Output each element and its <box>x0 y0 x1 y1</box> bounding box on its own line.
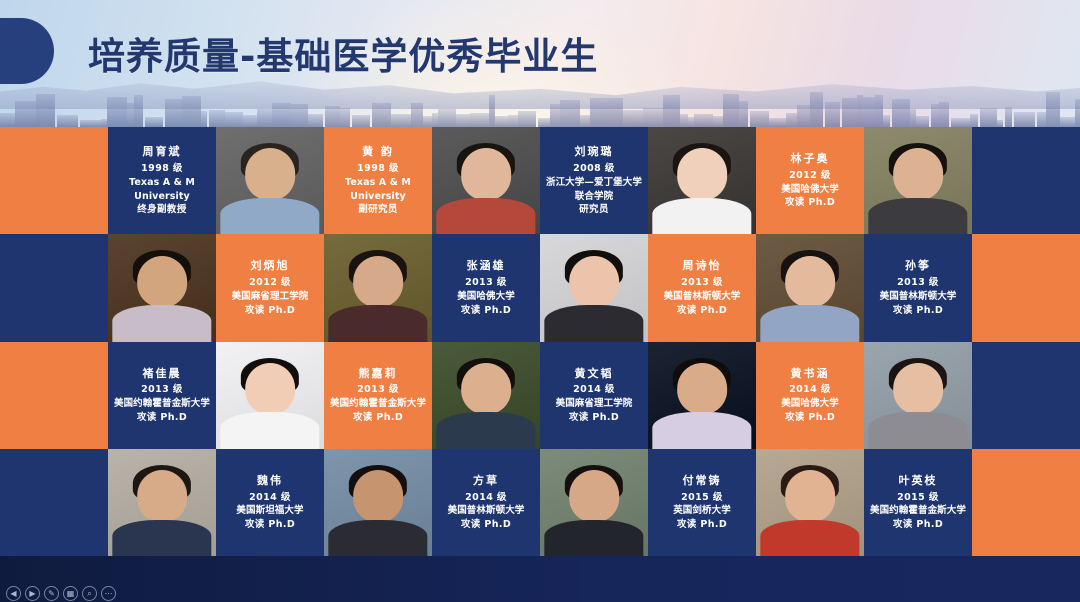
graduate-enrollment-year: 2014 级 <box>781 383 839 397</box>
graduate-institution: 美国麻省理工学院 <box>556 397 633 411</box>
empty-navy-cell <box>972 127 1080 234</box>
graduate-info-cell: 周育斌1998 级Texas A & M University终身副教授 <box>108 127 216 234</box>
presentation-slide: 培养质量-基础医学优秀毕业生 周育斌1998 级Texas A & M Univ… <box>0 0 1080 602</box>
graduate-institution: 美国约翰霍普金斯大学 <box>330 397 426 411</box>
empty-navy-cell <box>972 342 1080 449</box>
graduate-info: 林子奥2012 级美国哈佛大学攻读 Ph.D <box>778 149 842 212</box>
graduate-role: 攻读 Ph.D <box>673 518 731 532</box>
presenter-toolbar[interactable]: ◀▶✎▦⌕⋯ <box>6 586 116 601</box>
zoom-button[interactable]: ⌕ <box>82 586 97 601</box>
graduate-institution: Texas A & M University <box>327 176 429 204</box>
graduate-info-cell: 林子奥2012 级美国哈佛大学攻读 Ph.D <box>756 127 864 234</box>
graduate-portrait-photo <box>864 127 972 234</box>
graduate-name: 周诗怡 <box>664 258 741 274</box>
page-title: 培养质量-基础医学优秀毕业生 <box>88 26 598 80</box>
graduate-enrollment-year: 2013 级 <box>457 276 515 290</box>
graduate-name: 熊嘉莉 <box>330 366 426 382</box>
graduate-role: 攻读 Ph.D <box>870 518 966 532</box>
graduate-info: 孙筝2013 级美国普林斯顿大学攻读 Ph.D <box>877 256 960 319</box>
graduate-role: 副研究员 <box>327 203 429 217</box>
graduate-info: 褚佳晨2013 级美国约翰霍普金斯大学攻读 Ph.D <box>111 364 213 427</box>
graduate-role: 攻读 Ph.D <box>448 518 525 532</box>
portrait-image <box>324 449 432 556</box>
graduate-info: 方草2014 级美国普林斯顿大学攻读 Ph.D <box>445 471 528 534</box>
graduate-portrait-photo <box>108 234 216 341</box>
graduate-portrait-photo <box>540 449 648 556</box>
graduate-portrait-photo <box>324 449 432 556</box>
portrait-image <box>432 127 540 234</box>
graduate-portrait-photo <box>216 127 324 234</box>
graduate-info: 熊嘉莉2013 级美国约翰霍普金斯大学攻读 Ph.D <box>327 364 429 427</box>
graduate-info-cell: 黄文韬2014 级美国麻省理工学院攻读 Ph.D <box>540 342 648 449</box>
graduate-info-cell: 黄 韵1998 级Texas A & M University副研究员 <box>324 127 432 234</box>
portrait-image <box>864 342 972 449</box>
graduate-info-cell: 叶英枝2015 级美国约翰霍普金斯大学攻读 Ph.D <box>864 449 972 556</box>
graduate-info-cell: 熊嘉莉2013 级美国约翰霍普金斯大学攻读 Ph.D <box>324 342 432 449</box>
portrait-image <box>864 127 972 234</box>
graduates-mosaic-grid: 周育斌1998 级Texas A & M University终身副教授黄 韵1… <box>0 127 1080 556</box>
empty-orange-cell <box>972 234 1080 341</box>
graduate-name: 刘琬璐 <box>546 144 642 160</box>
graduate-role: 攻读 Ph.D <box>236 518 303 532</box>
pen-tool-button[interactable]: ✎ <box>44 586 59 601</box>
graduate-enrollment-year: 2013 级 <box>664 276 741 290</box>
graduate-name: 刘炳旭 <box>232 258 309 274</box>
graduate-name: 方草 <box>448 473 525 489</box>
portrait-image <box>540 449 648 556</box>
previous-slide-icon: ◀ <box>10 590 16 598</box>
graduate-enrollment-year: 2015 级 <box>673 491 731 505</box>
graduate-info: 黄文韬2014 级美国麻省理工学院攻读 Ph.D <box>553 364 636 427</box>
graduate-info-cell: 付常铸2015 级英国剑桥大学攻读 Ph.D <box>648 449 756 556</box>
graduate-role: 攻读 Ph.D <box>232 304 309 318</box>
graduate-enrollment-year: 2008 级 <box>546 162 642 176</box>
portrait-image <box>648 127 756 234</box>
graduate-enrollment-year: 1998 级 <box>111 162 213 176</box>
graduate-info-cell: 方草2014 级美国普林斯顿大学攻读 Ph.D <box>432 449 540 556</box>
graduate-enrollment-year: 2015 级 <box>870 491 966 505</box>
graduate-role: 攻读 Ph.D <box>781 411 839 425</box>
graduate-institution: 美国约翰霍普金斯大学 <box>870 504 966 518</box>
previous-slide-button[interactable]: ◀ <box>6 586 21 601</box>
graduate-info-cell: 张涵雄2013 级美国哈佛大学攻读 Ph.D <box>432 234 540 341</box>
graduate-role: 研究员 <box>546 203 642 217</box>
graduate-role: 攻读 Ph.D <box>781 196 839 210</box>
portrait-image <box>648 342 756 449</box>
graduate-institution: 美国斯坦福大学 <box>236 504 303 518</box>
graduate-info: 周育斌1998 级Texas A & M University终身副教授 <box>108 142 216 219</box>
graduate-info: 叶英枝2015 级美国约翰霍普金斯大学攻读 Ph.D <box>867 471 969 534</box>
graduate-portrait-photo <box>648 342 756 449</box>
graduate-role: 攻读 Ph.D <box>664 304 741 318</box>
graduate-info: 刘琬璐2008 级浙江大学—爱丁堡大学联合学院研究员 <box>543 142 645 219</box>
graduate-name: 孙筝 <box>880 258 957 274</box>
graduate-institution-line2: 联合学院 <box>546 190 642 204</box>
empty-orange-cell <box>0 127 108 234</box>
graduate-info-cell: 刘炳旭2012 级美国麻省理工学院攻读 Ph.D <box>216 234 324 341</box>
portrait-image <box>108 234 216 341</box>
graduate-info-cell: 褚佳晨2013 级美国约翰霍普金斯大学攻读 Ph.D <box>108 342 216 449</box>
graduate-info-cell: 刘琬璐2008 级浙江大学—爱丁堡大学联合学院研究员 <box>540 127 648 234</box>
next-slide-icon: ▶ <box>29 590 35 598</box>
graduate-institution: 美国麻省理工学院 <box>232 290 309 304</box>
graduate-institution: 英国剑桥大学 <box>673 504 731 518</box>
portrait-image <box>216 127 324 234</box>
graduate-info: 张涵雄2013 级美国哈佛大学攻读 Ph.D <box>454 256 518 319</box>
next-slide-button[interactable]: ▶ <box>25 586 40 601</box>
more-options-button[interactable]: ⋯ <box>101 586 116 601</box>
graduate-name: 付常铸 <box>673 473 731 489</box>
graduate-name: 周育斌 <box>111 144 213 160</box>
graduate-portrait-photo <box>432 127 540 234</box>
graduate-enrollment-year: 2013 级 <box>880 276 957 290</box>
graduate-institution: Texas A & M University <box>111 176 213 204</box>
graduate-name: 林子奥 <box>781 151 839 167</box>
graduate-name: 魏伟 <box>236 473 303 489</box>
graduate-info-cell: 孙筝2013 级美国普林斯顿大学攻读 Ph.D <box>864 234 972 341</box>
graduate-portrait-photo <box>540 234 648 341</box>
graduate-enrollment-year: 2014 级 <box>236 491 303 505</box>
graduate-role: 攻读 Ph.D <box>114 411 210 425</box>
all-slides-icon: ▦ <box>67 590 75 598</box>
graduate-role: 攻读 Ph.D <box>556 411 633 425</box>
graduate-enrollment-year: 2013 级 <box>114 383 210 397</box>
graduate-role: 终身副教授 <box>111 203 213 217</box>
graduate-enrollment-year: 2014 级 <box>556 383 633 397</box>
graduate-portrait-photo <box>108 449 216 556</box>
graduate-info: 付常铸2015 级英国剑桥大学攻读 Ph.D <box>670 471 734 534</box>
graduate-enrollment-year: 2013 级 <box>330 383 426 397</box>
graduate-portrait-photo <box>216 342 324 449</box>
graduate-name: 张涵雄 <box>457 258 515 274</box>
graduate-institution: 美国哈佛大学 <box>781 183 839 197</box>
all-slides-button[interactable]: ▦ <box>63 586 78 601</box>
slide-header-banner: 培养质量-基础医学优秀毕业生 <box>0 0 1080 127</box>
graduate-portrait-photo <box>756 449 864 556</box>
empty-navy-cell <box>0 234 108 341</box>
graduate-portrait-photo <box>432 342 540 449</box>
graduate-name: 黄文韬 <box>556 366 633 382</box>
graduate-institution: 美国普林斯顿大学 <box>880 290 957 304</box>
graduate-portrait-photo <box>324 234 432 341</box>
graduate-institution: 美国普林斯顿大学 <box>448 504 525 518</box>
graduate-role: 攻读 Ph.D <box>457 304 515 318</box>
portrait-image <box>108 449 216 556</box>
empty-navy-cell <box>0 449 108 556</box>
graduate-enrollment-year: 2014 级 <box>448 491 525 505</box>
graduate-name: 褚佳晨 <box>114 366 210 382</box>
graduate-info: 黄 韵1998 级Texas A & M University副研究员 <box>324 142 432 219</box>
graduate-info: 刘炳旭2012 级美国麻省理工学院攻读 Ph.D <box>229 256 312 319</box>
portrait-image <box>432 342 540 449</box>
graduate-enrollment-year: 1998 级 <box>327 162 429 176</box>
city-skyline-decoration <box>0 85 1080 127</box>
graduate-portrait-photo <box>648 127 756 234</box>
graduate-portrait-photo <box>756 234 864 341</box>
graduate-enrollment-year: 2012 级 <box>232 276 309 290</box>
graduate-name: 黄书涵 <box>781 366 839 382</box>
slide-footer-strip <box>0 556 1080 602</box>
graduate-role: 攻读 Ph.D <box>330 411 426 425</box>
graduate-institution: 美国约翰霍普金斯大学 <box>114 397 210 411</box>
pen-tool-icon: ✎ <box>48 590 55 598</box>
graduate-info: 周诗怡2013 级美国普林斯顿大学攻读 Ph.D <box>661 256 744 319</box>
graduate-info-cell: 魏伟2014 级美国斯坦福大学攻读 Ph.D <box>216 449 324 556</box>
portrait-image <box>324 234 432 341</box>
graduate-info: 魏伟2014 级美国斯坦福大学攻读 Ph.D <box>233 471 306 534</box>
graduate-info-cell: 周诗怡2013 级美国普林斯顿大学攻读 Ph.D <box>648 234 756 341</box>
graduate-enrollment-year: 2012 级 <box>781 169 839 183</box>
graduate-institution: 美国普林斯顿大学 <box>664 290 741 304</box>
graduate-institution: 浙江大学—爱丁堡大学 <box>546 176 642 190</box>
graduate-institution: 美国哈佛大学 <box>457 290 515 304</box>
graduate-info: 黄书涵2014 级美国哈佛大学攻读 Ph.D <box>778 364 842 427</box>
graduate-info-cell: 黄书涵2014 级美国哈佛大学攻读 Ph.D <box>756 342 864 449</box>
graduate-institution: 美国哈佛大学 <box>781 397 839 411</box>
graduate-name: 叶英枝 <box>870 473 966 489</box>
portrait-image <box>756 449 864 556</box>
more-options-icon: ⋯ <box>105 590 113 598</box>
zoom-icon: ⌕ <box>87 590 91 598</box>
graduate-portrait-photo <box>864 342 972 449</box>
title-pill-decoration <box>0 18 54 84</box>
empty-orange-cell <box>972 449 1080 556</box>
portrait-image <box>540 234 648 341</box>
portrait-image <box>216 342 324 449</box>
graduate-role: 攻读 Ph.D <box>880 304 957 318</box>
portrait-image <box>756 234 864 341</box>
graduate-name: 黄 韵 <box>327 144 429 160</box>
empty-orange-cell <box>0 342 108 449</box>
